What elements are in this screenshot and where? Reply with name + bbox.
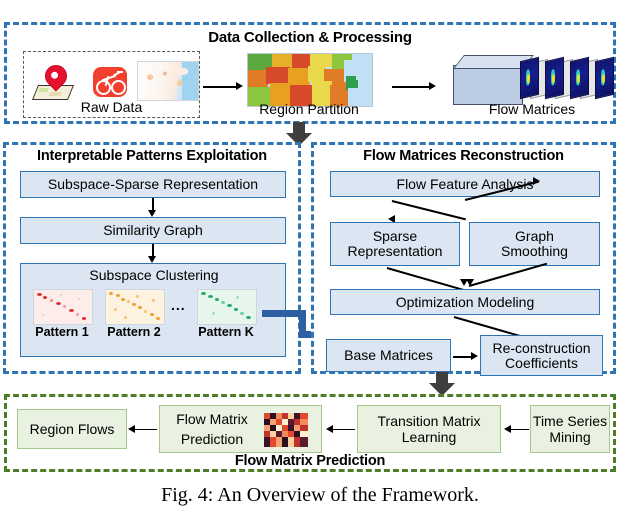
block-arrow-down-bottom: [429, 372, 455, 396]
box-time-series-mining[interactable]: Time Series Mining: [530, 405, 610, 453]
box-reconstruction-coefficients[interactable]: Re-construction Coefficients: [480, 335, 603, 376]
patterns-title: Interpretable Patterns Exploitation: [6, 148, 298, 164]
raw-data-label: Raw Data: [23, 99, 200, 115]
map-pin-icon: [33, 63, 81, 103]
reconstruction-title: Flow Matrices Reconstruction: [314, 148, 613, 164]
box-base-matrices[interactable]: Base Matrices: [326, 339, 451, 372]
reconstruction-panel: Flow Matrices Reconstruction Flow Featur…: [311, 142, 616, 374]
box-time-series-mining-line1: Time Series: [533, 413, 607, 429]
box-reconstruction-coefficients-line2: Coefficients: [505, 356, 578, 371]
patterns-ellipsis: ...: [171, 298, 186, 313]
box-reconstruction-coefficients-line1: Re-construction: [492, 341, 590, 356]
pattern-k-label: Pattern K: [193, 326, 259, 339]
figure-caption: Fig. 4: An Overview of the Framework.: [0, 484, 640, 507]
bike-share-icon: [93, 67, 127, 97]
box-flow-matrix-prediction-line2: Prediction: [166, 431, 258, 447]
box-time-series-mining-line2: Mining: [549, 429, 590, 445]
road-network-map-icon: [137, 61, 199, 101]
box-subspace-clustering[interactable]: Subspace Clustering: [20, 263, 286, 357]
prediction-panel: Region Flows Flow Matrix Prediction: [4, 394, 616, 472]
region-partition-label: Region Partition: [239, 101, 379, 117]
pattern-k-thumbnail: [197, 289, 257, 325]
data-collection-panel: Data Collection & Processing: [4, 22, 616, 124]
box-graph-smoothing[interactable]: Graph Smoothing: [469, 222, 600, 266]
pattern-2-label: Pattern 2: [101, 326, 167, 339]
box-optimization-modeling[interactable]: Optimization Modeling: [330, 289, 600, 315]
box-graph-smoothing-line2: Smoothing: [501, 244, 568, 259]
pattern-1-label: Pattern 1: [29, 326, 95, 339]
box-transition-matrix-learning-line1: Transition Matrix: [378, 413, 481, 429]
box-sparse-representation[interactable]: Sparse Representation: [330, 222, 460, 266]
patterns-panel: Interpretable Patterns Exploitation Subs…: [3, 142, 301, 374]
pattern-2-thumbnail: [105, 289, 165, 325]
box-sparse-representation-line2: Representation: [348, 244, 443, 259]
box-flow-feature-analysis[interactable]: Flow Feature Analysis: [330, 171, 600, 197]
prediction-title: Flow Matrix Prediction: [7, 453, 613, 469]
pattern-1-thumbnail: [33, 289, 93, 325]
box-transition-matrix-learning[interactable]: Transition Matrix Learning: [357, 405, 501, 453]
box-graph-smoothing-line1: Graph: [515, 229, 554, 244]
box-subspace-sparse-representation[interactable]: Subspace-Sparse Representation: [20, 171, 286, 198]
box-flow-matrix-prediction-line1: Flow Matrix: [166, 411, 258, 427]
box-region-flows[interactable]: Region Flows: [17, 409, 127, 449]
box-subspace-clustering-label: Subspace Clustering: [21, 268, 287, 283]
data-collection-title: Data Collection & Processing: [7, 29, 613, 46]
box-similarity-graph[interactable]: Similarity Graph: [20, 217, 286, 244]
flow-matrix-heatmap-thumbnail: [264, 413, 308, 447]
flow-matrices-label: Flow Matrices: [457, 101, 607, 117]
region-partition-image: [247, 53, 373, 107]
box-transition-matrix-learning-line2: Learning: [402, 429, 457, 445]
box-flow-matrix-prediction[interactable]: Flow Matrix Prediction: [159, 405, 322, 453]
box-sparse-representation-line1: Sparse: [373, 229, 417, 244]
